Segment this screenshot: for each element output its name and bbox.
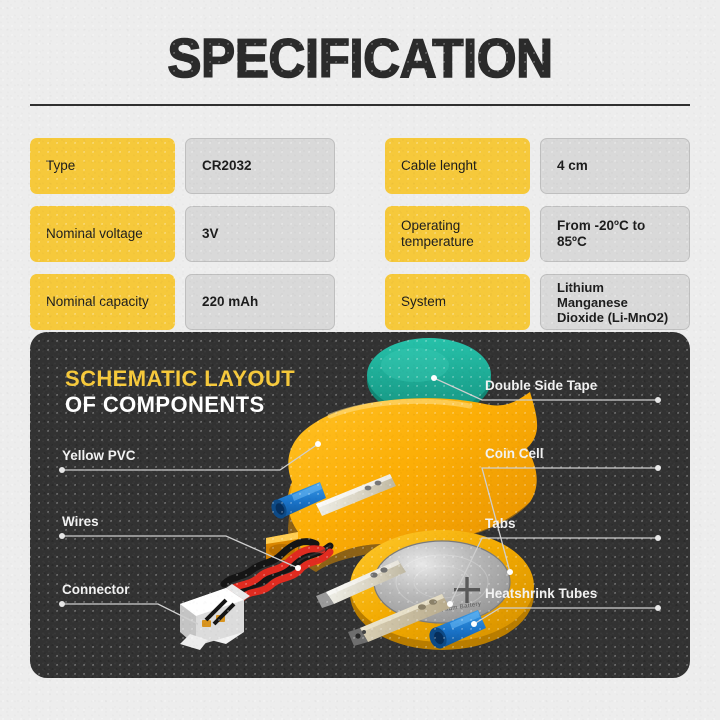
schematic-heading-line1: SCHEMATIC LAYOUT <box>65 366 295 392</box>
spec-key-nominal-capacity: Nominal capacity <box>30 274 175 330</box>
callout-yellow-pvc: Yellow PVC <box>62 448 136 463</box>
callout-double-side-tape: Double Side Tape <box>485 378 597 393</box>
schematic-panel: ROMETECH 3V Lithium Battery <box>30 332 690 678</box>
callout-tabs: Tabs <box>485 516 516 531</box>
spec-row: Nominal capacity 220 mAh <box>30 274 335 330</box>
spec-value-operating-temperature: From -20ºC to 85ºC <box>540 206 690 262</box>
spec-row: Cable lenght 4 cm <box>385 138 690 194</box>
spec-key-type: Type <box>30 138 175 194</box>
page-header: SPECIFICATION <box>0 28 720 88</box>
schematic-heading-line2: OF COMPONENTS <box>65 392 295 418</box>
title-divider <box>30 104 690 106</box>
spec-row: System Lithium Manganese Dioxide (Li-MnO… <box>385 274 690 330</box>
callout-wires: Wires <box>62 514 99 529</box>
spec-column-left: Type CR2032 Nominal voltage 3V Nominal c… <box>30 138 335 330</box>
spec-key-cable-length: Cable lenght <box>385 138 530 194</box>
spec-key-operating-temperature: Operating temperature <box>385 206 530 262</box>
spec-value-cable-length: 4 cm <box>540 138 690 194</box>
spec-value-type: CR2032 <box>185 138 335 194</box>
spec-column-right: Cable lenght 4 cm Operating temperature … <box>385 138 690 330</box>
spec-value-nominal-capacity: 220 mAh <box>185 274 335 330</box>
callout-connector: Connector <box>62 582 130 597</box>
callout-heatshrink-tubes: Heatshrink Tubes <box>485 586 597 601</box>
spec-column-gap <box>335 138 385 330</box>
schematic-heading: SCHEMATIC LAYOUT OF COMPONENTS <box>65 366 295 418</box>
spec-value-system: Lithium Manganese Dioxide (Li-MnO2) <box>540 274 690 330</box>
spec-key-nominal-voltage: Nominal voltage <box>30 206 175 262</box>
spec-row: Operating temperature From -20ºC to 85ºC <box>385 206 690 262</box>
page-title: SPECIFICATION <box>25 28 695 88</box>
spec-row: Type CR2032 <box>30 138 335 194</box>
spec-value-nominal-voltage: 3V <box>185 206 335 262</box>
spec-row: Nominal voltage 3V <box>30 206 335 262</box>
callout-coin-cell: Coin Cell <box>485 446 544 461</box>
specification-table: Type CR2032 Nominal voltage 3V Nominal c… <box>30 138 690 330</box>
spec-key-system: System <box>385 274 530 330</box>
